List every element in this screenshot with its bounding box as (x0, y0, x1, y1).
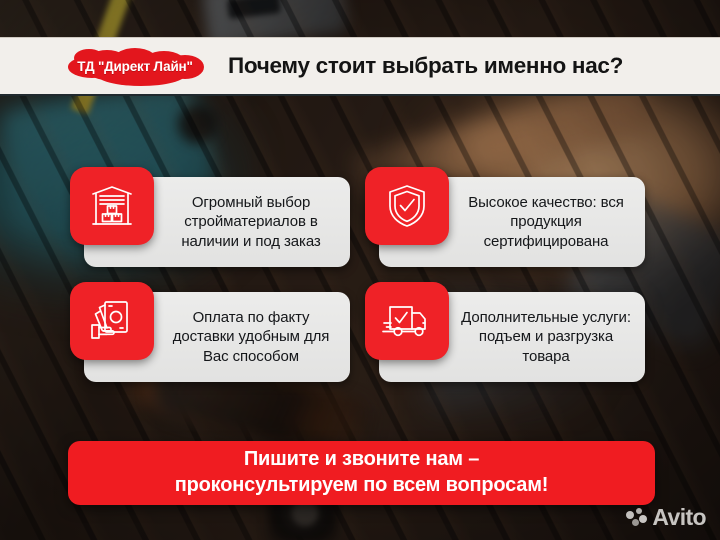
feature-card-text: Огромный выбор стройматериалов в наличии… (162, 193, 350, 252)
hand-cash-icon (70, 282, 154, 360)
shield-check-icon (365, 167, 449, 245)
td-direkt-lain-logo[interactable]: ТД "Директ Лайн" (66, 47, 204, 85)
cta-line-1: Пишите и звоните нам – (244, 447, 479, 473)
avito-wordmark: Avito (652, 506, 706, 529)
page-title: Почему стоит выбрать именно нас? (228, 53, 623, 79)
cta-banner[interactable]: Пишите и звоните нам – проконсультируем … (68, 441, 655, 505)
avito-watermark: Avito (626, 506, 706, 529)
avito-dot (626, 511, 634, 519)
avito-logo-icon (626, 508, 647, 527)
feature-card-text: Дополнительные услуги: подъем и разгрузк… (457, 308, 645, 367)
feature-card-text: Высокое качество: вся продукция сертифиц… (457, 193, 645, 252)
avito-dot (636, 508, 642, 514)
logo-text: ТД "Директ Лайн" (77, 59, 192, 74)
feature-card-text: Оплата по факту доставки удобным для Вас… (162, 308, 350, 367)
delivery-truck-check-icon (365, 282, 449, 360)
avito-dot (632, 519, 639, 526)
cta-line-2: проконсультируем по всем вопросам! (175, 473, 549, 499)
header-bar: ТД "Директ Лайн" Почему стоит выбрать им… (0, 37, 720, 96)
warehouse-boxes-icon (70, 167, 154, 245)
avito-dot (639, 515, 647, 523)
